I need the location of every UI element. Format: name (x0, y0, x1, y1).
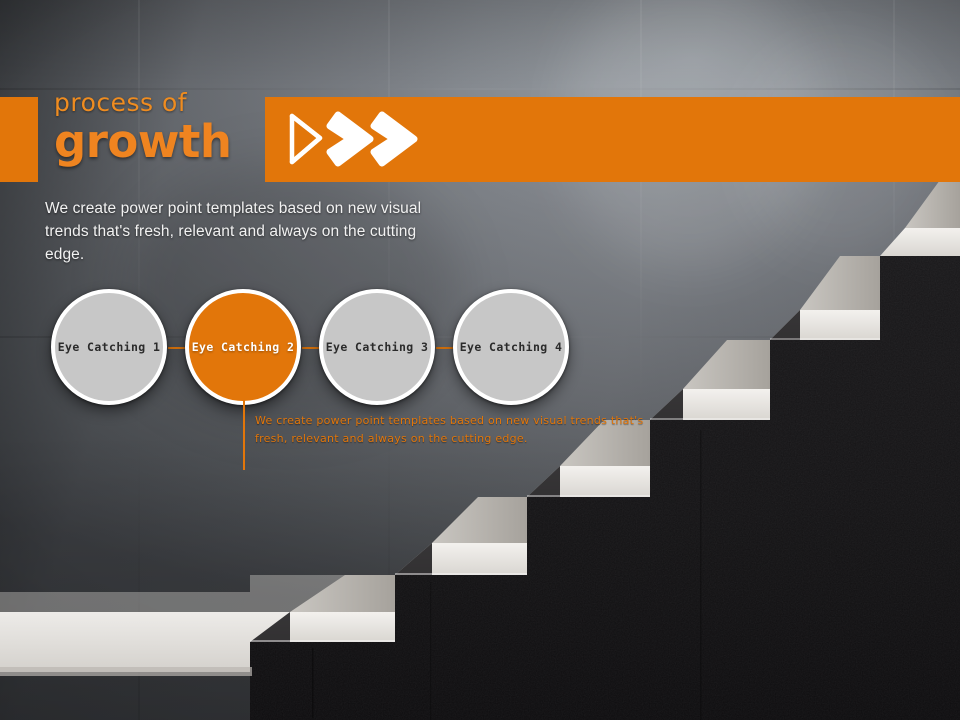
callout-stem (243, 392, 245, 470)
process-node-label: Eye Catching 1 (58, 340, 161, 354)
process-node-3[interactable]: Eye Catching 3 (319, 289, 435, 405)
process-node-2[interactable]: Eye Catching 2 (185, 289, 301, 405)
process-node-label: Eye Catching 2 (192, 340, 295, 354)
callout-text: We create power point templates based on… (255, 412, 675, 448)
process-node-label: Eye Catching 3 (326, 340, 429, 354)
slide-root: process of growth We create power point … (0, 0, 960, 720)
process-node-1[interactable]: Eye Catching 1 (51, 289, 167, 405)
process-node-label: Eye Catching 4 (460, 340, 563, 354)
process-node-4[interactable]: Eye Catching 4 (453, 289, 569, 405)
process-diagram: Eye Catching 1 Eye Catching 2 Eye Catchi… (0, 0, 960, 720)
